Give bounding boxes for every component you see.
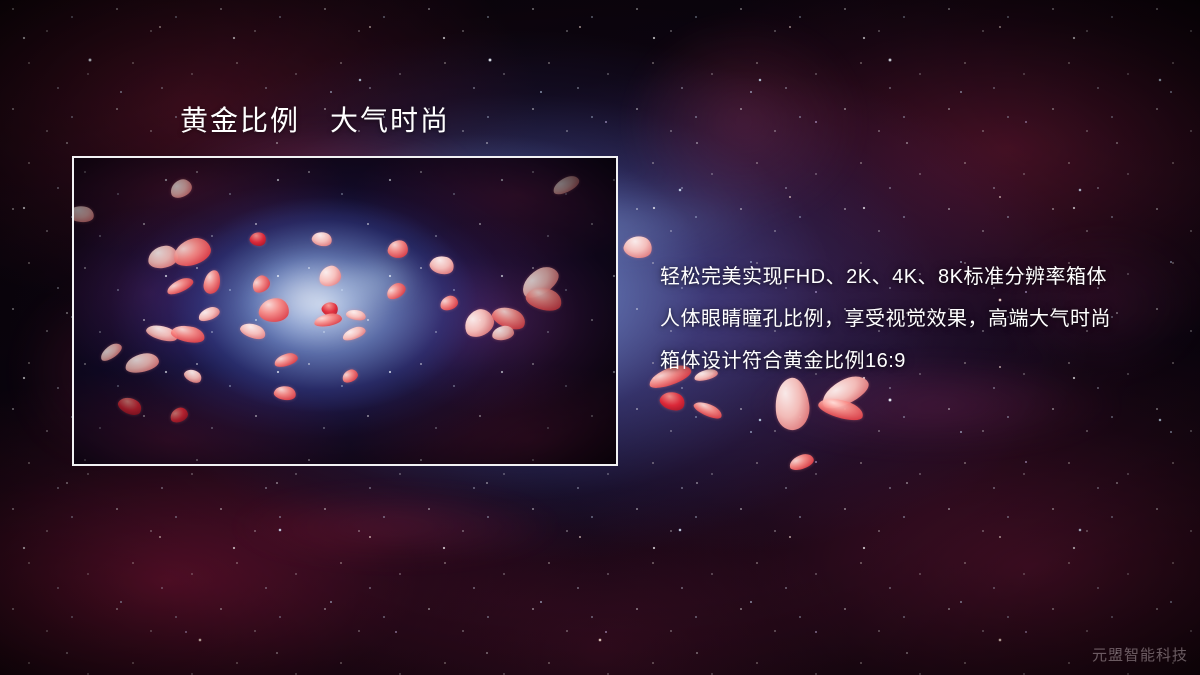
picture-vignette xyxy=(74,158,616,464)
body-line-2: 人体眼睛瞳孔比例，享受视觉效果，高端大气时尚 xyxy=(660,298,1180,340)
petal xyxy=(816,393,865,424)
body-line-1: 轻松完美实现FHD、2K、4K、8K标准分辨率箱体 xyxy=(660,256,1180,298)
petal xyxy=(788,452,816,472)
presentation-slide: 黄金比例 大气时尚 xyxy=(0,0,1200,675)
petal xyxy=(772,376,813,432)
petal xyxy=(658,388,688,414)
framed-image-panel[interactable] xyxy=(72,156,618,466)
petal xyxy=(622,233,654,261)
petal xyxy=(692,398,724,422)
framed-image-content xyxy=(74,158,616,464)
body-line-3: 箱体设计符合黄金比例16:9 xyxy=(660,340,1180,382)
body-text-block: 轻松完美实现FHD、2K、4K、8K标准分辨率箱体 人体眼睛瞳孔比例，享受视觉效… xyxy=(660,256,1180,382)
page-title: 黄金比例 大气时尚 xyxy=(180,103,450,138)
watermark-text: 元盟智能科技 xyxy=(1092,644,1188,665)
